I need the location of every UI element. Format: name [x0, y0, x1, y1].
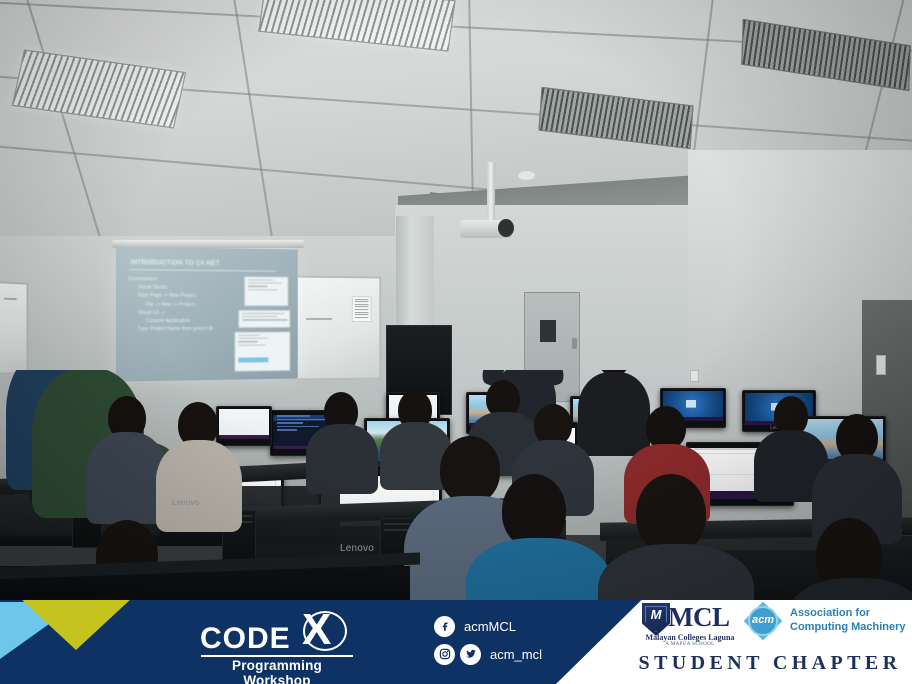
social-row-facebook[interactable]: acmMCL — [434, 612, 554, 640]
whiteboard-marking — [306, 318, 332, 320]
mcl-shield-letter: M — [642, 607, 670, 622]
smoke-detector-icon — [518, 171, 535, 180]
mcl-acronym: MCL — [668, 602, 730, 633]
slide-screenshot-thumb — [235, 332, 291, 372]
lab-workstations: Lenovo — [0, 370, 912, 600]
slide-bullet: Visual C# -> — [138, 309, 247, 317]
door-poster — [540, 320, 556, 342]
monitor-brand-label: Lenovo — [340, 546, 400, 552]
slide-title: INTRODUCTION TO C#.NET — [130, 259, 278, 268]
monitor-screen — [219, 409, 269, 439]
mcl-logo: M MCL Malayan Colleges Laguna A MAPÚA SC… — [642, 600, 738, 650]
slide-screenshot-thumb — [238, 310, 290, 328]
monitor-brand-label: Lenovo — [172, 500, 232, 506]
codex-subtitle: Programming Workshop — [201, 658, 353, 684]
codex-divider — [201, 655, 353, 657]
acm-logo: acm Association for Computing Machinery — [744, 602, 910, 644]
student-chapter-label: STUDENT CHAPTER — [634, 652, 906, 675]
slide-title-underline — [129, 269, 276, 272]
mcl-tagline: A MAPÚA SCHOOL — [642, 642, 738, 647]
whiteboard-marking — [4, 298, 17, 300]
door-handle — [572, 338, 577, 349]
whiteboard-right — [286, 275, 381, 380]
projector-mount-pole — [487, 162, 495, 222]
monitor — [216, 406, 272, 446]
instagram-icon[interactable] — [434, 644, 455, 665]
slide-bullet-list: Environment Visual Studio Start Page -> … — [128, 275, 246, 334]
whiteboard-notice — [352, 296, 372, 322]
codex-wordmark: CODE — [200, 622, 291, 656]
acm-wordmark: acm — [748, 614, 778, 626]
social-handles: acmMCL acm_mcl — [434, 612, 554, 674]
social-row-instagram-twitter[interactable]: acm_mcl — [434, 640, 554, 668]
projection-screen: INTRODUCTION TO C#.NET Environment Visua… — [116, 246, 298, 381]
mcl-full-name: Malayan Colleges Laguna — [642, 633, 738, 642]
acm-full-name: Association for Computing Machinery — [790, 606, 906, 634]
projector-lens-icon — [498, 219, 514, 237]
slide-bullet: Start Page -> New Project — [138, 292, 247, 301]
slide-bullet: File -> New -> Project... — [146, 300, 246, 308]
facebook-icon[interactable] — [434, 616, 455, 637]
instagram-twitter-handle: acm_mcl — [490, 647, 542, 662]
yellow-triangle — [20, 600, 132, 650]
acm-name-line-1: Association for — [790, 606, 906, 620]
workshop-photo: INTRODUCTION TO C#.NET Environment Visua… — [0, 0, 912, 600]
twitter-icon[interactable] — [460, 644, 481, 665]
slide-bullet: Console Application — [146, 317, 246, 325]
slide-screenshot-thumb — [244, 276, 288, 306]
codex-logo: CODE X Programming Workshop — [196, 606, 356, 678]
screenshot-root: INTRODUCTION TO C#.NET Environment Visua… — [0, 0, 912, 684]
whiteboard-left — [0, 281, 28, 375]
slide-bullet: Type Project Name then press Ok — [138, 325, 247, 334]
facebook-handle: acmMCL — [464, 619, 516, 634]
acm-name-line-2: Computing Machinery — [790, 620, 906, 634]
codex-x-letter: X — [302, 608, 331, 652]
